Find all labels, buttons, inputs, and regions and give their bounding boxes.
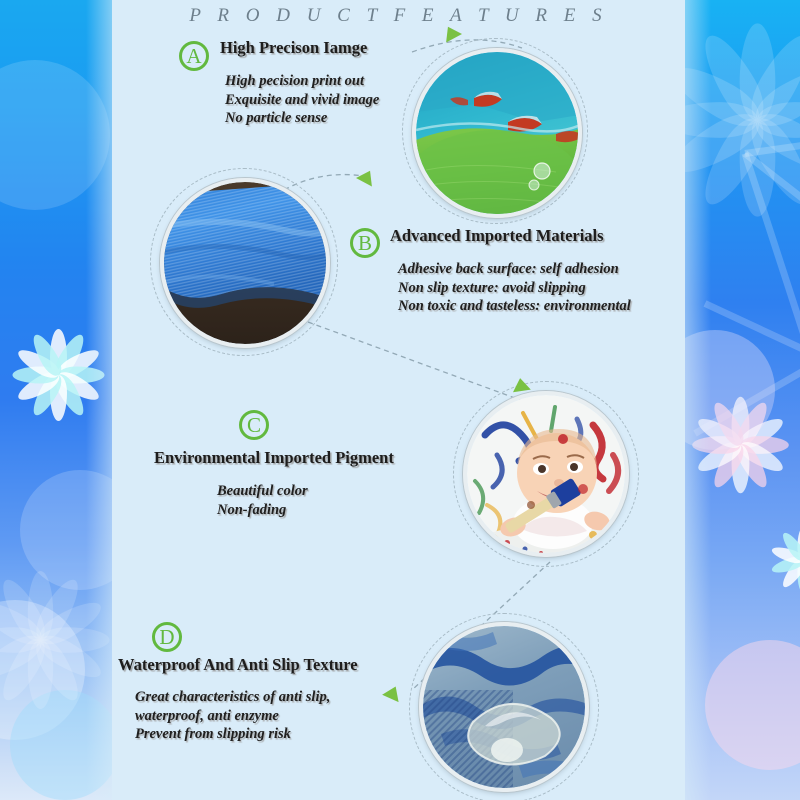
left-decorative-border [0,0,112,800]
water-droplet-anti-slip-photo [419,622,589,792]
badge-a: A [179,41,209,71]
page-title: P R O D U C T F E A T U R E S [112,5,685,27]
badge-b: B [350,228,380,258]
arrow-icon-b [356,167,378,187]
feature-body-d: Great characteristics of anti slip, wate… [135,688,330,744]
feature-title-d: Waterproof And Anti Slip Texture [118,655,358,675]
blue-textured-fabric-photo [160,178,330,348]
badge-d: D [152,622,182,652]
koi-fish-printed-mat-photo [412,48,582,218]
decor-blob [20,470,112,590]
arrow-icon-c [511,377,531,392]
arrow-icon-d [382,683,404,702]
center-content-panel: P R O D U C T F E A T U R E S A High Pre… [112,0,685,800]
badge-c: C [239,410,269,440]
feature-body-c: Beautiful color Non-fading [217,482,308,519]
baby-painting-photo [463,391,629,557]
feature-title-a: High Precison Iamge [220,38,367,58]
decor-blob [0,60,110,210]
product-features-poster: P R O D U C T F E A T U R E S A High Pre… [0,0,800,800]
feature-body-b: Adhesive back surface: self adhesion Non… [398,260,631,316]
feature-body-a: High pecision print out Exquisite and vi… [225,72,379,128]
feature-title-b: Advanced Imported Materials [390,226,604,246]
right-decorative-border [685,0,800,800]
decor-blob [705,640,800,770]
decor-blob [10,690,112,800]
feature-title-c: Environmental Imported Pigment [154,448,394,468]
